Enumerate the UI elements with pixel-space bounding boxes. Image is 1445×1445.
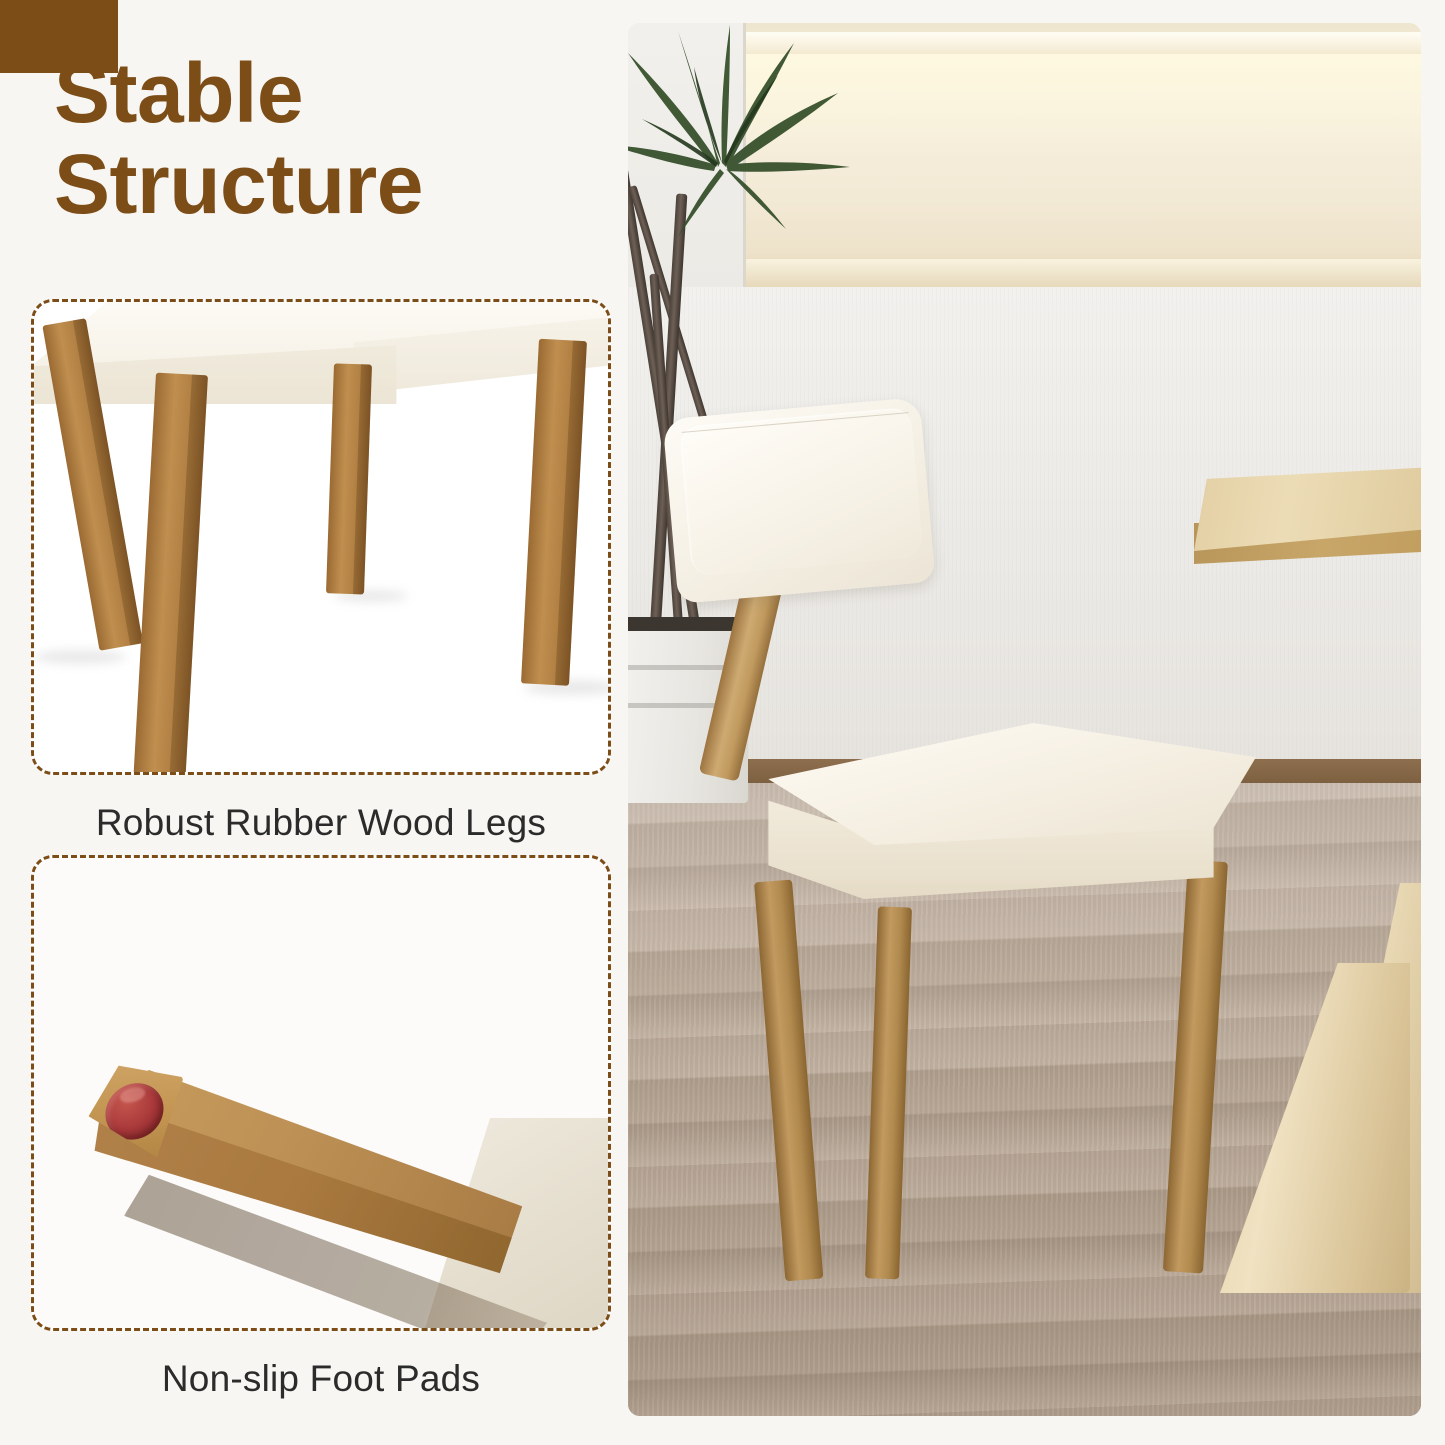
chair-seat <box>726 723 1256 913</box>
foot-pad-illustration-image <box>34 858 608 1328</box>
feature-robust-legs-caption: Robust Rubber Wood Legs <box>31 801 611 845</box>
plant-foliage-icon <box>628 23 878 263</box>
feature-foot-pads-panel <box>31 855 611 1331</box>
chair-backrest-cushion <box>679 407 923 577</box>
cove-ledge <box>740 259 1421 287</box>
feature-foot-pads: Non-slip Foot Pads <box>31 855 611 1401</box>
page-title-line-1: Stable <box>54 48 614 139</box>
stool-illustration-image <box>34 302 608 772</box>
wood-leg-front-left <box>133 373 208 775</box>
leg-shadow-far-left <box>34 650 126 664</box>
wood-leg-back-middle <box>326 363 372 594</box>
wood-leg-far-right <box>521 339 587 686</box>
feature-robust-legs-panel <box>31 299 611 775</box>
feature-robust-legs: Robust Rubber Wood Legs <box>31 299 611 845</box>
lifestyle-photo <box>628 23 1421 1416</box>
page-title: Stable Structure <box>54 48 614 229</box>
plant-soil <box>628 617 740 631</box>
page-title-line-2: Structure <box>54 139 614 230</box>
infographic-page: Stable Structure Robust Rubber Wood Legs <box>0 0 1445 1445</box>
chair-backrest <box>662 397 935 604</box>
feature-foot-pads-caption: Non-slip Foot Pads <box>31 1357 611 1401</box>
